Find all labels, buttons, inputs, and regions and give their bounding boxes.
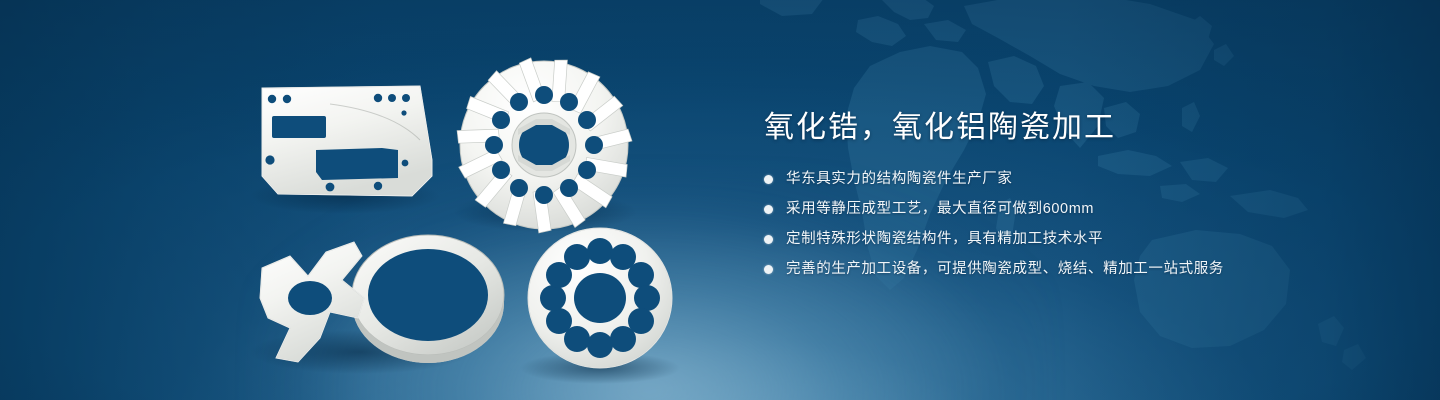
page-title: 氧化锆，氧化铝陶瓷加工: [764, 108, 1404, 148]
feature-text: 华东具实力的结构陶瓷件生产厂家: [786, 168, 1013, 191]
bullet-dot-icon: [764, 265, 773, 274]
bullet-dot-icon: [764, 205, 773, 214]
ceramic-ring-part: [352, 235, 504, 363]
hero-banner: 氧化锆，氧化铝陶瓷加工 华东具实力的结构陶瓷件生产厂家 采用等静压成型工艺，最大…: [0, 0, 1440, 400]
list-item: 定制特殊形状陶瓷结构件，具有精加工技术水平: [764, 228, 1404, 251]
banner-copy: 氧化锆，氧化铝陶瓷加工 华东具实力的结构陶瓷件生产厂家 采用等静压成型工艺，最大…: [764, 108, 1404, 288]
ceramic-disc-part: [528, 228, 672, 368]
list-item: 华东具实力的结构陶瓷件生产厂家: [764, 168, 1404, 191]
feature-list: 华东具实力的结构陶瓷件生产厂家 采用等静压成型工艺，最大直径可做到600mm 定…: [764, 168, 1404, 281]
bullet-dot-icon: [764, 235, 773, 244]
ceramic-products-image: [0, 0, 740, 400]
list-item: 完善的生产加工设备，可提供陶瓷成型、烧结、精加工一站式服务: [764, 258, 1404, 281]
feature-text: 完善的生产加工设备，可提供陶瓷成型、烧结、精加工一站式服务: [786, 258, 1224, 281]
ceramic-plate-part: [262, 86, 432, 196]
bullet-dot-icon: [764, 175, 773, 184]
list-item: 采用等静压成型工艺，最大直径可做到600mm: [764, 198, 1404, 221]
feature-text: 定制特殊形状陶瓷结构件，具有精加工技术水平: [786, 228, 1103, 251]
feature-text: 采用等静压成型工艺，最大直径可做到600mm: [786, 198, 1094, 221]
